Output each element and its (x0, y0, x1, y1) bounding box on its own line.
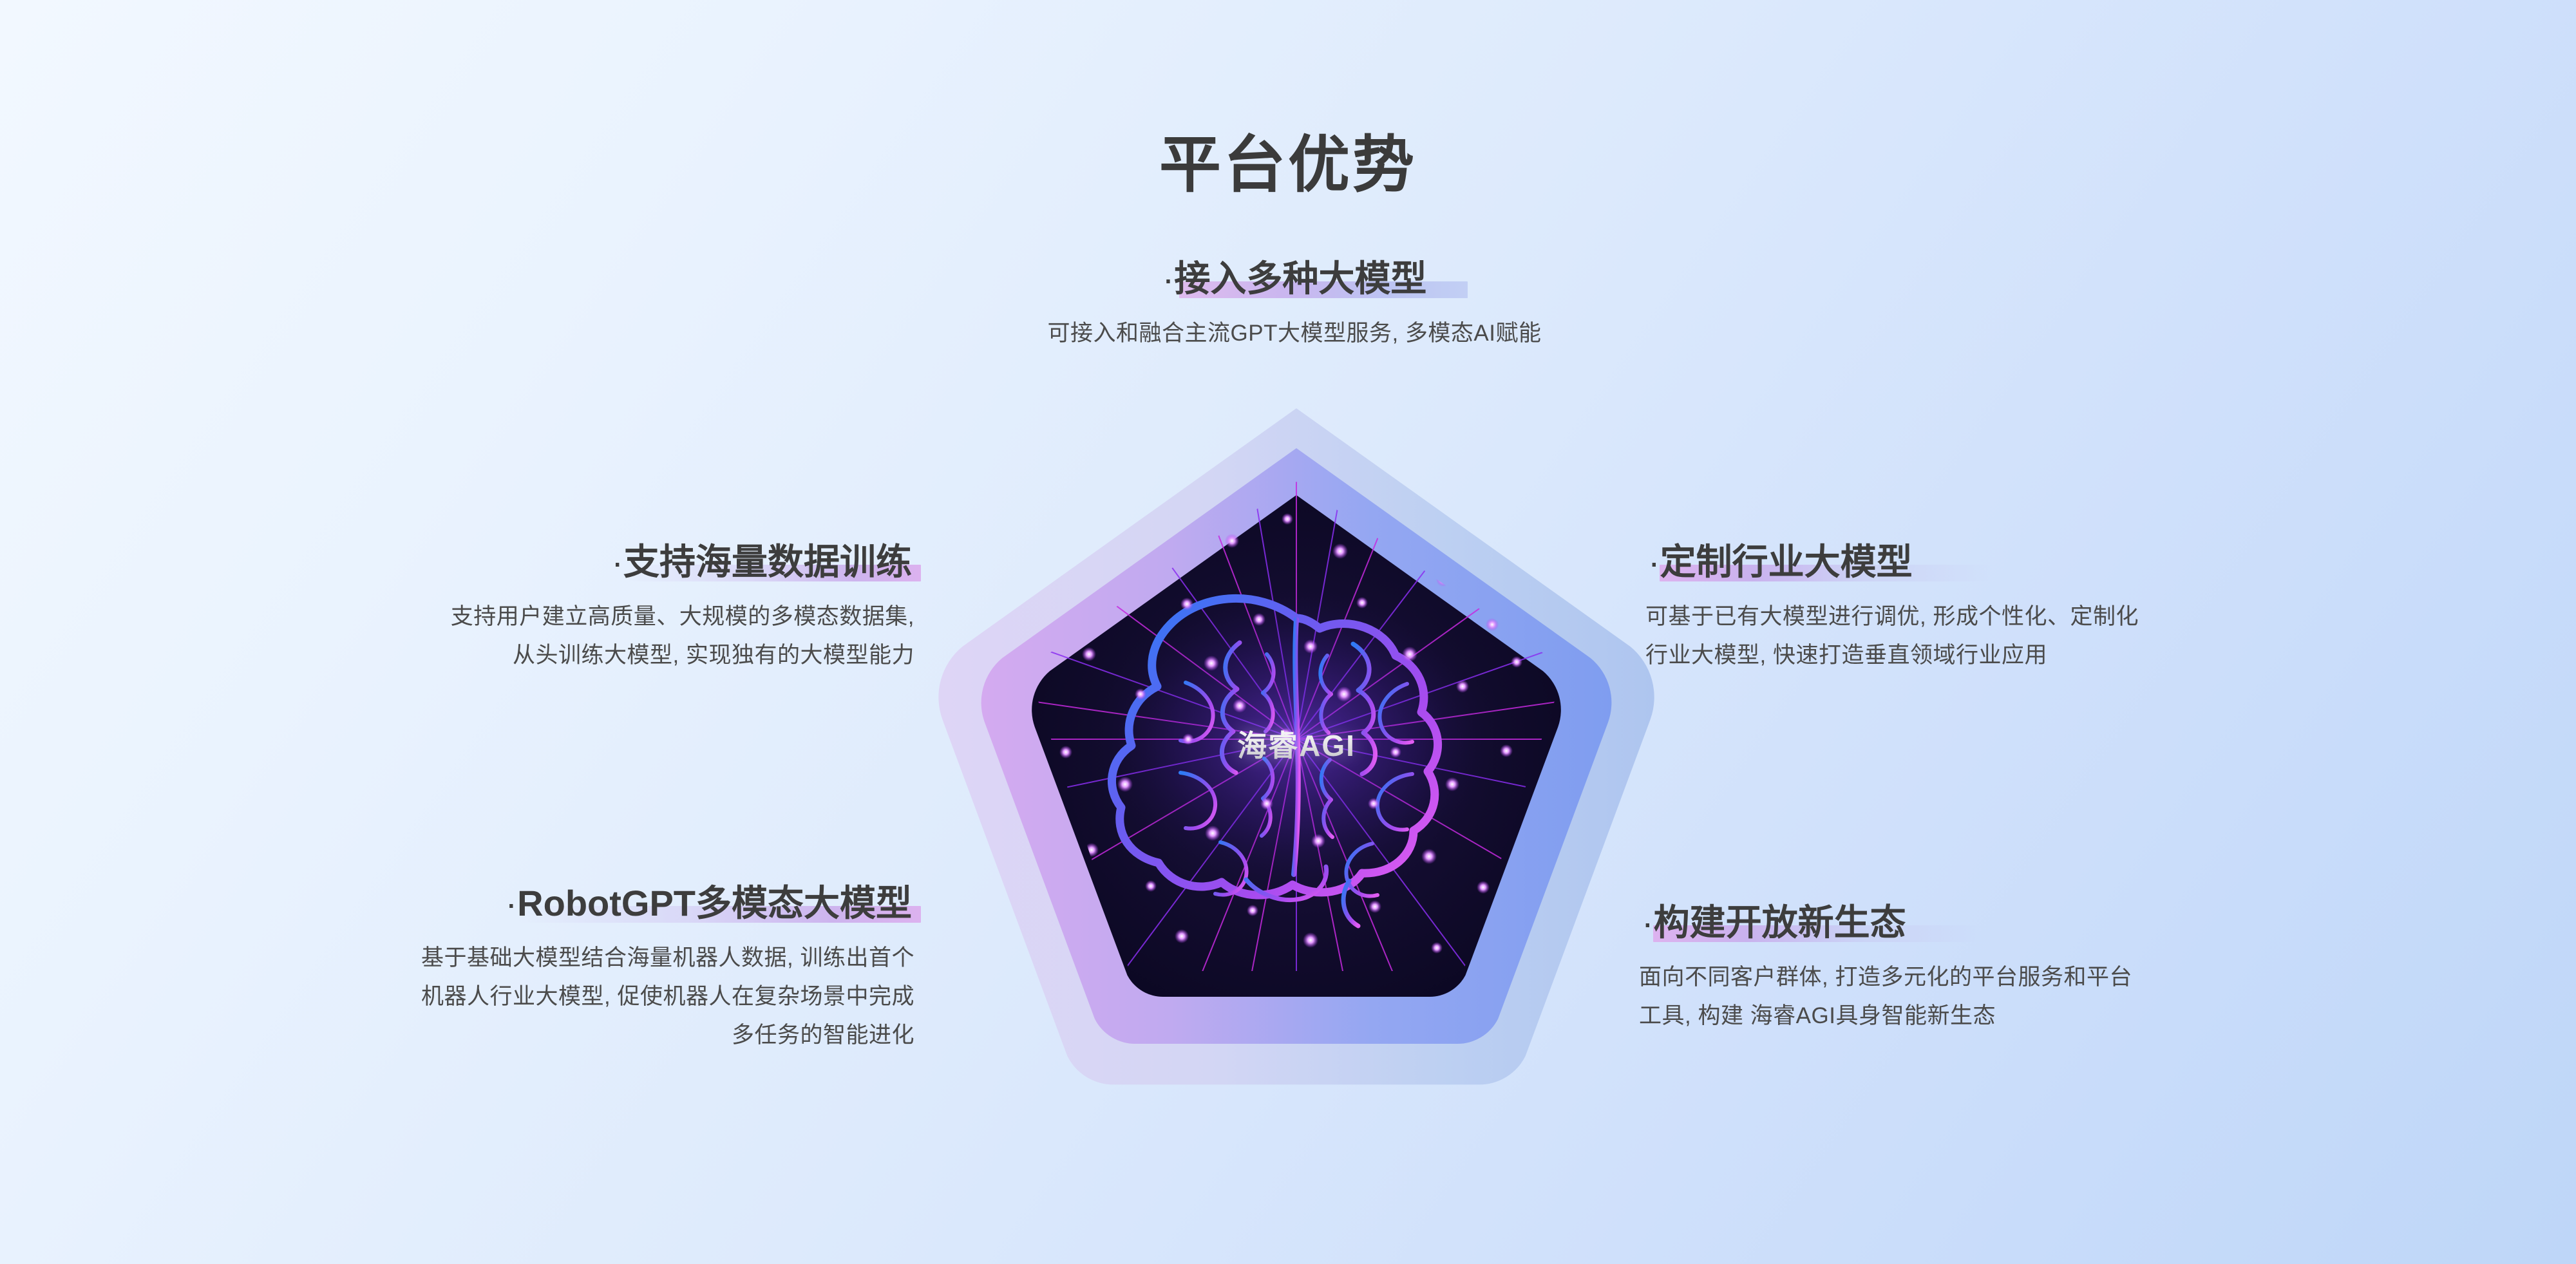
feature-build-open-new-ecosystem[interactable]: ·构建开放新生态 面向不同客户群体, 打造多元化的平台服务和平台 工具, 构建 … (1639, 901, 2495, 1035)
description-line: 支持用户建立高质量、大规模的多模态数据集, (84, 598, 914, 636)
description-line: 多任务的智能进化 (84, 1016, 914, 1055)
feature-access-multiple-large-models[interactable]: ·接入多种大模型 可接入和融合主流GPT大模型服务, 多模态AI赋能 (741, 258, 1848, 353)
feature-heading: ·支持海量数据训练 (609, 541, 914, 583)
description-line: 行业大模型, 快速打造垂直领域行业应用 (1645, 636, 2495, 675)
description-line: 可基于已有大模型进行调优, 形成个性化、定制化 (1645, 598, 2495, 636)
center-pentagon-graphic: 海睿AGI (929, 386, 1663, 1095)
feature-heading: ·RobotGPT多模态大模型 (503, 882, 914, 925)
description-line: 可接入和融合主流GPT大模型服务, 多模态AI赋能 (741, 314, 1848, 353)
feature-description: 基于基础大模型结合海量机器人数据, 训练出首个 机器人行业大模型, 促使机器人在… (84, 939, 914, 1055)
description-line: 从头训练大模型, 实现独有的大模型能力 (84, 636, 914, 675)
feature-heading-label: RobotGPT多模态大模型 (517, 883, 912, 923)
description-line: 工具, 构建 海睿AGI具身智能新生态 (1639, 997, 2495, 1035)
bullet-icon: · (611, 542, 623, 582)
feature-custom-industry-large-model[interactable]: ·定制行业大模型 可基于已有大模型进行调优, 形成个性化、定制化 行业大模型, … (1645, 541, 2495, 675)
bullet-icon: · (1162, 258, 1175, 299)
feature-description: 支持用户建立高质量、大规模的多模态数据集, 从头训练大模型, 实现独有的大模型能… (84, 598, 914, 675)
feature-description: 面向不同客户群体, 打造多元化的平台服务和平台 工具, 构建 海睿AGI具身智能… (1639, 958, 2495, 1035)
feature-heading: ·接入多种大模型 (1160, 258, 1430, 300)
feature-heading-label: 构建开放新生态 (1654, 902, 1906, 943)
feature-description: 可基于已有大模型进行调优, 形成个性化、定制化 行业大模型, 快速打造垂直领域行… (1645, 598, 2495, 675)
bullet-icon: · (506, 883, 518, 923)
description-line: 基于基础大模型结合海量机器人数据, 训练出首个 (84, 939, 914, 977)
feature-heading-label: 支持海量数据训练 (623, 542, 912, 582)
feature-heading-label: 定制行业大模型 (1660, 542, 1913, 582)
bullet-icon: · (1642, 902, 1654, 943)
description-line: 面向不同客户群体, 打造多元化的平台服务和平台 (1639, 958, 2495, 997)
feature-description: 可接入和融合主流GPT大模型服务, 多模态AI赋能 (741, 314, 1848, 353)
feature-heading: ·定制行业大模型 (1645, 541, 1915, 583)
bullet-icon: · (1648, 542, 1660, 582)
feature-heading-label: 接入多种大模型 (1174, 258, 1426, 299)
feature-support-massive-data-training[interactable]: ·支持海量数据训练 支持用户建立高质量、大规模的多模态数据集, 从头训练大模型,… (84, 541, 914, 675)
feature-heading: ·构建开放新生态 (1639, 901, 1909, 944)
feature-robotgpt-multimodal-large-model[interactable]: ·RobotGPT多模态大模型 基于基础大模型结合海量机器人数据, 训练出首个 … (84, 882, 914, 1055)
description-line: 机器人行业大模型, 促使机器人在复杂场景中完成 (84, 977, 914, 1016)
page-title: 平台优势 (0, 115, 2576, 204)
